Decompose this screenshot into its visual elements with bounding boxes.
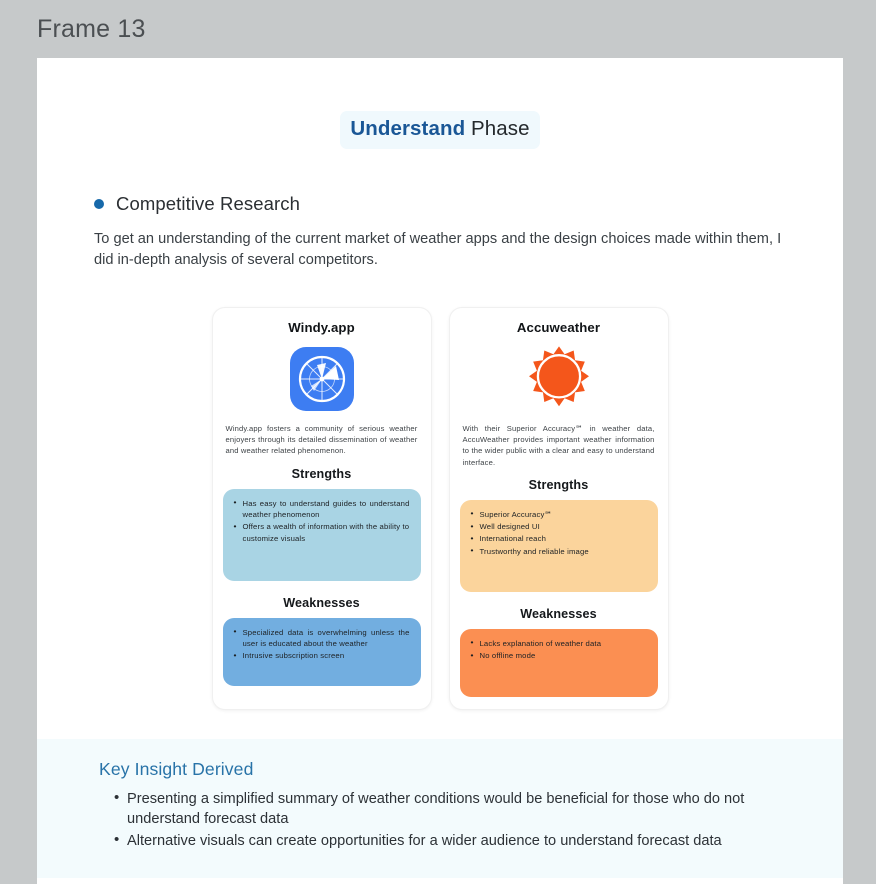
strengths-list: Has easy to understand guides to underst…	[230, 498, 410, 544]
frame-label: Frame 13	[37, 10, 146, 48]
page-title-keyword: Understand	[350, 117, 465, 140]
weaknesses-heading: Weaknesses	[223, 596, 421, 610]
section-body-text: To get an understanding of the current m…	[94, 229, 786, 271]
competitor-cards-row: Windy.app	[37, 307, 843, 710]
list-item: Alternative visuals can create opportuni…	[127, 831, 803, 852]
strengths-list: Superior Accuracy℠ Well designed UI Inte…	[467, 509, 647, 557]
key-insight-band: Key Insight Derived Presenting a simplif…	[37, 739, 843, 879]
list-item: No offline mode	[480, 650, 647, 661]
section-heading-label: Competitive Research	[116, 193, 300, 215]
list-item: Well designed UI	[480, 521, 647, 532]
list-item: Intrusive subscription screen	[243, 650, 410, 661]
list-item: Presenting a simplified summary of weath…	[127, 789, 803, 830]
sun-icon	[525, 345, 593, 413]
list-item: Trustworthy and reliable image	[480, 546, 647, 557]
key-insight-list: Presenting a simplified summary of weath…	[99, 789, 803, 852]
weaknesses-box: Specialized data is overwhelming unless …	[223, 618, 421, 686]
windy-compass-icon	[290, 347, 354, 411]
slide-artboard: Understand Phase Competitive Research To…	[37, 58, 843, 884]
page-title-rest: Phase	[465, 117, 529, 140]
list-item: Has easy to understand guides to underst…	[243, 498, 410, 521]
competitor-name: Windy.app	[223, 320, 421, 335]
weaknesses-heading: Weaknesses	[460, 607, 658, 621]
list-item: International reach	[480, 533, 647, 544]
key-insight-title: Key Insight Derived	[99, 759, 803, 780]
page-title: Understand Phase	[340, 111, 539, 149]
bullet-dot-icon	[94, 199, 104, 209]
weaknesses-list: Lacks explanation of weather data No off…	[467, 638, 647, 662]
weaknesses-box: Lacks explanation of weather data No off…	[460, 629, 658, 697]
competitor-logo	[223, 343, 421, 415]
list-item: Superior Accuracy℠	[480, 509, 647, 520]
competitor-description: With their Superior Accuracy℠ in weather…	[460, 423, 658, 468]
strengths-box: Has easy to understand guides to underst…	[223, 489, 421, 581]
competitor-card-windy: Windy.app	[212, 307, 432, 710]
competitor-card-accuweather: Accuweather With their Superior Accuracy…	[449, 307, 669, 710]
strengths-heading: Strengths	[460, 478, 658, 492]
competitor-name: Accuweather	[460, 320, 658, 335]
list-item: Offers a wealth of information with the …	[243, 521, 410, 544]
section-heading: Competitive Research	[94, 193, 843, 215]
list-item: Specialized data is overwhelming unless …	[243, 627, 410, 650]
strengths-heading: Strengths	[223, 467, 421, 481]
strengths-box: Superior Accuracy℠ Well designed UI Inte…	[460, 500, 658, 592]
competitor-logo	[460, 343, 658, 415]
page-title-wrap: Understand Phase	[37, 111, 843, 149]
list-item: Lacks explanation of weather data	[480, 638, 647, 649]
competitor-description: Windy.app fosters a community of serious…	[223, 423, 421, 457]
weaknesses-list: Specialized data is overwhelming unless …	[230, 627, 410, 662]
